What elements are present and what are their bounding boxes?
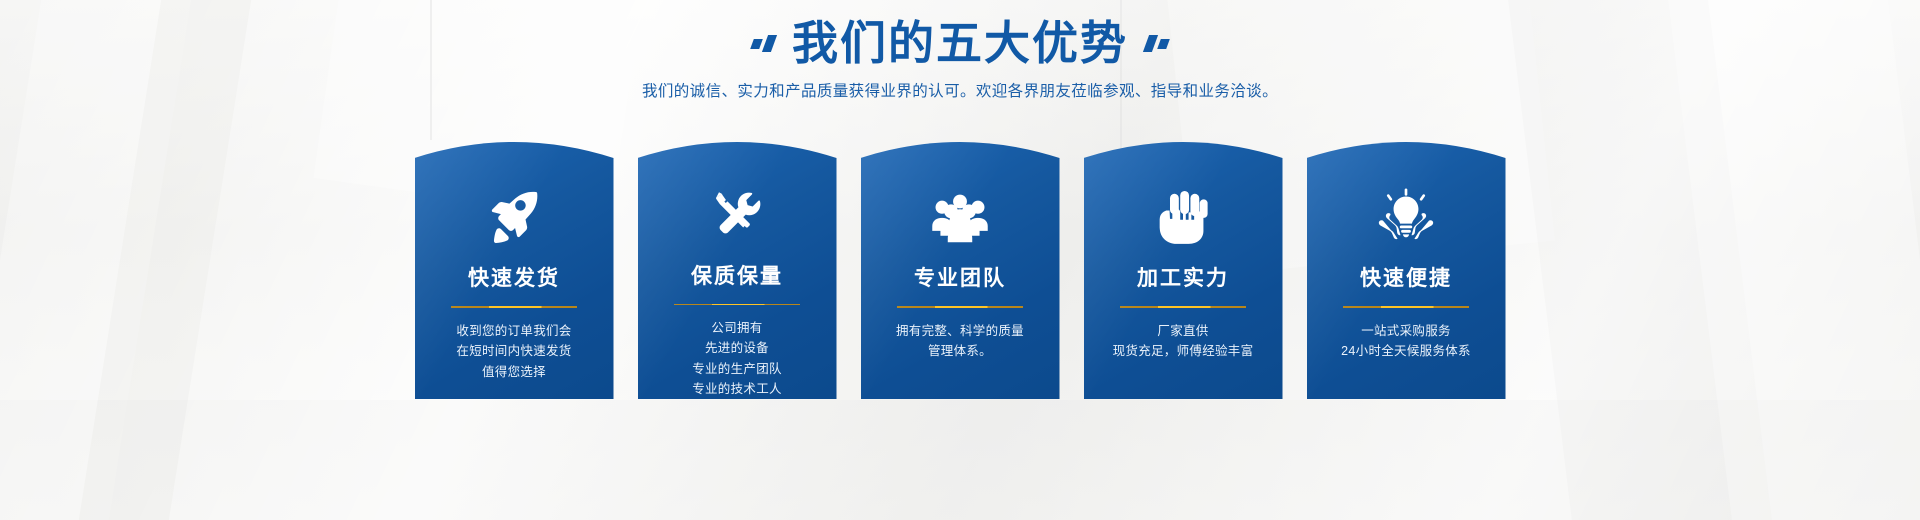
card-title: 专业团队: [914, 262, 1006, 292]
page-subtitle: 我们的诚信、实力和产品质量获得业界的认可。欢迎各界朋友莅临参观、指导和业务洽谈。: [0, 79, 1920, 101]
card-description-line: 收到您的订单我们会: [456, 321, 571, 341]
card-divider: [897, 306, 1023, 308]
card-description: 收到您的订单我们会 在短时间内快速发货 值得您选择: [456, 321, 571, 382]
card-title: 快速发货: [468, 262, 560, 292]
card-description-line: 现货充足，师傅经验丰富: [1113, 341, 1254, 361]
lightbulb-hands-icon: [1374, 186, 1438, 248]
title-row: 我们的五大优势: [0, 18, 1920, 70]
advantage-card[interactable]: 保质保量 公司拥有 先进的设备 专业的生产团队 专业的技术工人: [638, 140, 837, 399]
card-description-line: 值得您选择: [456, 362, 571, 382]
diamond-slash-decoration-left-icon: [752, 35, 774, 52]
fist-icon: [1157, 186, 1209, 248]
header: 我们的五大优势 我们的诚信、实力和产品质量获得业界的认可。欢迎各界朋友莅临参观、…: [0, 0, 1920, 101]
card-description-line: 一站式采购服务: [1341, 321, 1471, 341]
card-description-line: 专业的生产团队: [692, 359, 782, 379]
advantage-card[interactable]: 快速发货 收到您的订单我们会 在短时间内快速发货 值得您选择: [415, 140, 614, 399]
advantage-card[interactable]: 快速便捷 一站式采购服务 24小时全天候服务体系: [1307, 140, 1506, 399]
card-title: 保质保量: [691, 260, 783, 290]
card-description-line: 厂家直供: [1113, 321, 1254, 341]
advantage-card-list: 快速发货 收到您的订单我们会 在短时间内快速发货 值得您选择: [0, 140, 1920, 399]
card-title: 加工实力: [1137, 262, 1229, 292]
card-title: 快速便捷: [1360, 262, 1452, 292]
card-description-line: 管理体系。: [896, 341, 1024, 361]
card-description: 拥有完整、科学的质量 管理体系。: [896, 321, 1024, 362]
card-description-line: 在短时间内快速发货: [456, 341, 571, 361]
team-group-icon: [929, 186, 991, 248]
card-divider: [1120, 306, 1246, 308]
card-description: 厂家直供 现货充足，师傅经验丰富: [1113, 321, 1254, 362]
background-shape: [0, 400, 1920, 520]
page-title: 我们的五大优势: [792, 18, 1128, 70]
rocket-icon: [483, 186, 545, 248]
card-description-line: 先进的设备: [692, 338, 782, 358]
card-description-line: 拥有完整、科学的质量: [896, 321, 1024, 341]
card-divider: [451, 306, 577, 308]
wrench-screwdriver-icon: [707, 186, 767, 246]
advantage-card[interactable]: 加工实力 厂家直供 现货充足，师傅经验丰富: [1084, 140, 1283, 399]
advantage-card[interactable]: 专业团队 拥有完整、科学的质量 管理体系。: [861, 140, 1060, 399]
diamond-slash-decoration-right-icon: [1146, 35, 1168, 52]
card-description-line: 专业的技术工人: [692, 379, 782, 399]
card-divider: [1343, 306, 1469, 308]
card-description-line: 24小时全天候服务体系: [1341, 341, 1471, 361]
card-divider: [674, 304, 800, 305]
card-description: 一站式采购服务 24小时全天候服务体系: [1341, 321, 1471, 362]
card-description: 公司拥有 先进的设备 专业的生产团队 专业的技术工人: [692, 318, 782, 399]
promo-banner: 我们的五大优势 我们的诚信、实力和产品质量获得业界的认可。欢迎各界朋友莅临参观、…: [0, 0, 1920, 520]
card-description-line: 公司拥有: [692, 318, 782, 338]
